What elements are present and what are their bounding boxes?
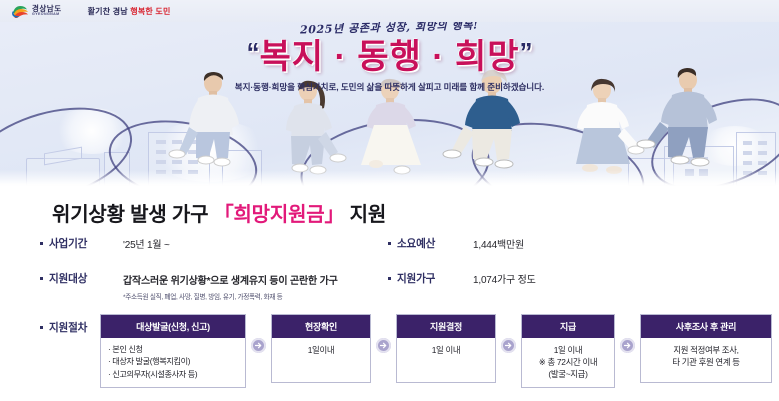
target-note: *주소득원 실직, 폐업, 사망, 질병, 방임, 유기, 가정폭력, 화재 등 — [123, 291, 338, 301]
flow-step-5[interactable]: 사후조사 후 관리 지원 적정여부 조사, 타 기관 후원 연계 등 — [640, 314, 772, 383]
flow-step-4-line: ※ 총 72시간 이내 — [529, 356, 607, 368]
info-cell-target: 지원대상 갑작스러운 위기상황*으로 생계유지 등이 곤란한 가구 *주소득원 … — [0, 271, 372, 301]
flow-step-4-title: 지급 — [522, 315, 614, 338]
flow-step-1-title: 대상발굴(신청, 신고) — [101, 315, 245, 338]
flow-step-4-line: 1일 이내 — [529, 344, 607, 356]
procedure-label: 지원절차 — [49, 320, 87, 335]
banner-text-block: 2025년 공존과 성장, 희망의 행복! “복지 · 동행 · 희망” 복지·… — [0, 18, 779, 93]
quote-close: ” — [520, 37, 533, 67]
bullet-icon — [40, 326, 43, 329]
banner-title-text: 복지 · 동행 · 희망 — [259, 38, 519, 76]
arrow-right-icon — [376, 338, 391, 353]
flow-step-5-line: 지원 적정여부 조사, — [648, 344, 764, 356]
flow-step-5-title: 사후조사 후 관리 — [641, 315, 771, 338]
flow-step-2-title: 현장확인 — [272, 315, 370, 338]
page-title-tail: 지원 — [350, 204, 386, 226]
budget-value: 1,444백만원 — [473, 236, 524, 251]
flow-step-4-body: 1일 이내 ※ 총 72시간 이내 (발굴~지급) — [522, 338, 614, 387]
banner-fade-overlay — [0, 170, 779, 186]
site-topbar: 경상남도 GYEONGNAM 활기찬 경남 행복한 도민 — [0, 0, 779, 22]
slogan-part-1: 활기찬 경남 — [88, 7, 128, 16]
slogan-part-2: 행복한 도민 — [130, 7, 170, 16]
infographic-page: 2025년 공존과 성장, 희망의 행복! “복지 · 동행 · 희망” 복지·… — [0, 0, 779, 401]
banner-subtitle: 복지·동행·희망을 핵심가치로, 도민의 삶을 따뜻하게 살피고 미래를 함께 … — [0, 81, 779, 93]
flow-step-1-body: 본인 신청 대상자 발굴(행복지킴이) 신고의무자(시설종사자 등) — [101, 338, 245, 387]
page-title-highlight: 「희망지원금」 — [214, 204, 345, 226]
ci-name-ko: 경상남도 — [32, 5, 62, 13]
arrow-right-icon — [501, 338, 516, 353]
bullet-icon — [40, 277, 43, 280]
content-section: 위기상황 발생 가구 「희망지원금」 지원 사업기간 '25년 1월 ~ 소요예… — [0, 186, 779, 401]
quote-open: “ — [246, 37, 259, 67]
period-label: 사업기간 — [49, 236, 123, 251]
info-cell-households: 지원가구 1,074가구 정도 — [372, 271, 752, 286]
flow-step-1-bullet: 신고의무자(시설종사자 등) — [108, 369, 238, 381]
bullet-icon — [388, 242, 391, 245]
households-label: 지원가구 — [397, 271, 473, 286]
flow-step-1-bullet: 본인 신청 — [108, 344, 238, 356]
flow-step-2[interactable]: 현장확인 1일이내 — [271, 314, 371, 383]
info-row-1: 사업기간 '25년 1월 ~ 소요예산 1,444백만원 — [0, 236, 779, 251]
arrow-right-icon — [620, 338, 635, 353]
info-row-2: 지원대상 갑작스러운 위기상황*으로 생계유지 등이 곤란한 가구 *주소득원 … — [0, 271, 779, 301]
banner-title: “복지 · 동행 · 희망” — [0, 38, 779, 76]
flow-step-5-body: 지원 적정여부 조사, 타 기관 후원 연계 등 — [641, 338, 771, 382]
page-title: 위기상황 발생 가구 「희망지원금」 지원 — [52, 198, 386, 227]
flow-step-3-title: 지원결정 — [397, 315, 495, 338]
flow-step-4[interactable]: 지급 1일 이내 ※ 총 72시간 이내 (발굴~지급) — [521, 314, 615, 388]
flow-step-list: 대상발굴(신청, 신고) 본인 신청 대상자 발굴(행복지킴이) 신고의무자(시… — [100, 314, 772, 388]
flow-step-3-body: 1일 이내 — [397, 338, 495, 382]
flow-step-2-line: 1일이내 — [279, 344, 363, 356]
arrow-right-icon — [251, 338, 266, 353]
procedure-flow: 지원절차 대상발굴(신청, 신고) 본인 신청 대상자 발굴(행복지킴이) 신고… — [0, 314, 779, 388]
ci-text-block: 경상남도 GYEONGNAM — [32, 5, 62, 17]
target-label: 지원대상 — [49, 271, 123, 286]
ci-name-en: GYEONGNAM — [32, 13, 62, 17]
flow-step-1[interactable]: 대상발굴(신청, 신고) 본인 신청 대상자 발굴(행복지킴이) 신고의무자(시… — [100, 314, 246, 388]
budget-label: 소요예산 — [397, 236, 473, 251]
flow-step-5-line: 타 기관 후원 연계 등 — [648, 356, 764, 368]
hero-banner: 2025년 공존과 성장, 희망의 행복! “복지 · 동행 · 희망” 복지·… — [0, 0, 779, 186]
info-grid: 사업기간 '25년 1월 ~ 소요예산 1,444백만원 지원 — [0, 236, 779, 301]
page-title-lead: 위기상황 발생 가구 — [52, 204, 208, 226]
bullet-icon — [388, 277, 391, 280]
flow-step-4-line: (발굴~지급) — [529, 368, 607, 380]
bullet-icon — [40, 242, 43, 245]
site-slogan: 활기찬 경남 행복한 도민 — [88, 6, 171, 17]
target-value: 갑작스러운 위기상황*으로 생계유지 등이 곤란한 가구 — [123, 276, 338, 287]
info-cell-period: 사업기간 '25년 1월 ~ — [0, 236, 372, 251]
period-value: '25년 1월 ~ — [123, 236, 170, 251]
procedure-label-cell: 지원절차 — [0, 314, 100, 335]
info-cell-budget: 소요예산 1,444백만원 — [372, 236, 752, 251]
gyeongnam-logo-icon[interactable] — [12, 5, 28, 18]
flow-step-2-body: 1일이내 — [272, 338, 370, 382]
households-value: 1,074가구 정도 — [473, 271, 536, 286]
flow-step-1-bullet: 대상자 발굴(행복지킴이) — [108, 356, 238, 368]
flow-step-3[interactable]: 지원결정 1일 이내 — [396, 314, 496, 383]
flow-step-3-line: 1일 이내 — [404, 344, 488, 356]
